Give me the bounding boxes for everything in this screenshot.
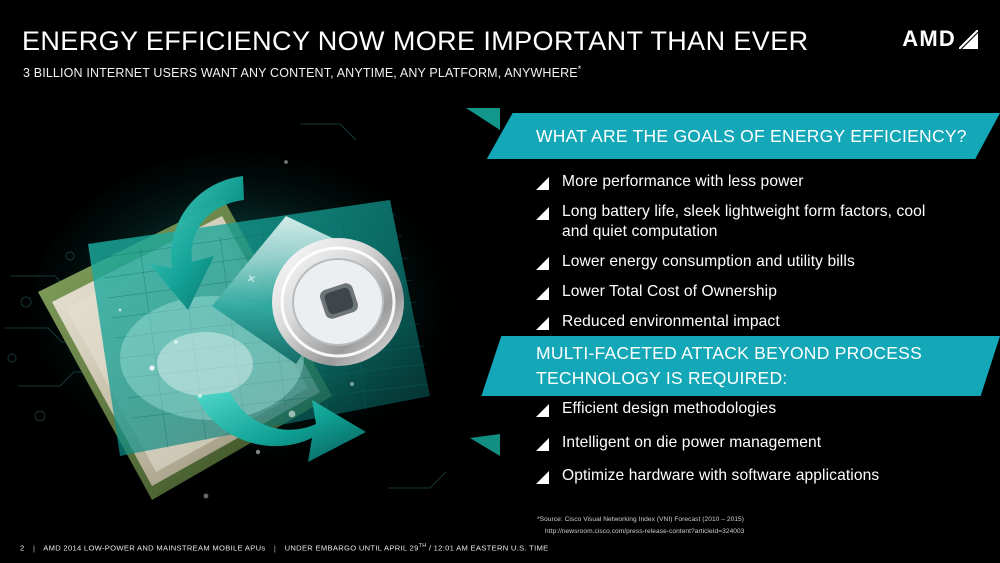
footer-embargo-pre: UNDER EMBARGO UNTIL APRIL 29 [285,544,419,553]
list-item: Lower energy consumption and utility bil… [536,252,956,273]
list-item-label: Lower Total Cost of Ownership [562,282,777,303]
amd-arrow-icon [959,30,978,49]
triangle-bullet-icon [536,404,550,417]
artwork-apu-battery: + [0,96,500,536]
triangle-bullet-icon [536,471,550,484]
footer-deck-title: AMD 2014 LOW-POWER AND MAINSTREAM MOBILE… [43,544,265,553]
banner-goals-text: WHAT ARE THE GOALS OF ENERGY EFFICIENCY? [462,124,967,149]
banner-attack: MULTI-FACETED ATTACK BEYOND PROCESS TECH… [462,336,1000,396]
list-item-label: Long battery life, sleek lightweight for… [562,202,956,243]
source-line-2[interactable]: http://newsroom.cisco.com/press-release-… [537,526,744,538]
list-item-label: Optimize hardware with software applicat… [562,466,879,487]
triangle-bullet-icon [536,438,550,451]
corner-accent-bottom [470,434,500,456]
list-item-label: Efficient design methodologies [562,399,776,420]
slide-energy-efficiency: ENERGY EFFICIENCY NOW MORE IMPORTANT THA… [0,0,1000,563]
footer-separator-2: | [268,544,282,553]
banner-goals: WHAT ARE THE GOALS OF ENERGY EFFICIENCY? [462,113,1000,159]
source-footnote: *Source: Cisco Visual Networking Index (… [537,514,744,537]
banner-attack-text: MULTI-FACETED ATTACK BEYOND PROCESS TECH… [462,341,1000,391]
triangle-bullet-icon [536,287,550,300]
bullet-list-attack: Efficient design methodologies Intellige… [536,399,956,500]
list-item-label: Intelligent on die power management [562,433,821,454]
triangle-bullet-icon [536,177,550,190]
triangle-bullet-icon [536,207,550,220]
list-item: Reduced environmental impact [536,312,956,333]
footer-embargo-post: / 12:01 AM EASTERN U.S. TIME [429,544,549,553]
page-subtitle-text: 3 BILLION INTERNET USERS WANT ANY CONTEN… [23,66,578,80]
list-item: Long battery life, sleek lightweight for… [536,202,956,243]
bullet-list-goals: More performance with less power Long ba… [536,172,956,341]
page-number: 2 [20,544,25,553]
core-glow-hot [157,332,253,396]
footer-embargo-ordinal: TH [419,543,427,549]
list-item: More performance with less power [536,172,956,193]
list-item: Optimize hardware with software applicat… [536,466,956,487]
amd-logo: AMD [902,28,978,50]
list-item-label: Reduced environmental impact [562,312,780,333]
list-item-label: More performance with less power [562,172,804,193]
subtitle-footnote-marker: * [578,64,582,74]
source-line-1: *Source: Cisco Visual Networking Index (… [537,516,744,523]
amd-logo-text: AMD [902,28,956,50]
slide-footer: 2 | AMD 2014 LOW-POWER AND MAINSTREAM MO… [20,543,549,553]
list-item: Lower Total Cost of Ownership [536,282,956,303]
artwork-illustration: + [0,96,500,536]
page-title: ENERGY EFFICIENCY NOW MORE IMPORTANT THA… [22,26,809,57]
page-subtitle: 3 BILLION INTERNET USERS WANT ANY CONTEN… [23,64,581,80]
list-item-label: Lower energy consumption and utility bil… [562,252,855,273]
footer-separator-1: | [27,544,41,553]
triangle-bullet-icon [536,257,550,270]
list-item: Intelligent on die power management [536,433,956,454]
list-item: Efficient design methodologies [536,399,956,420]
triangle-bullet-icon [536,317,550,330]
